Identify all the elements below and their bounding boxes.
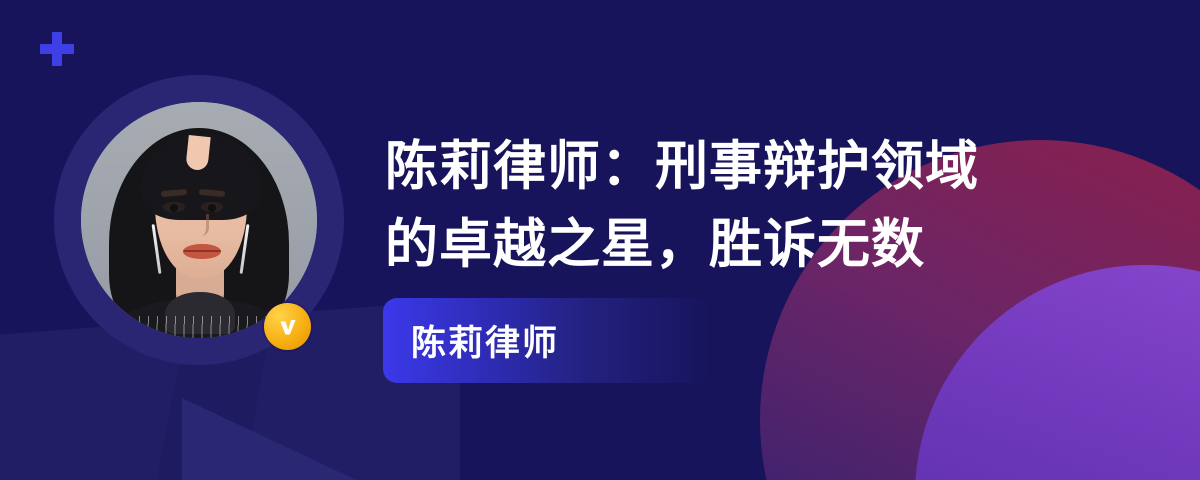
verified-check-icon bbox=[275, 314, 301, 340]
name-badge-label: 陈莉律师 bbox=[411, 315, 559, 366]
portrait-shirt-stripes bbox=[139, 316, 269, 338]
page-title: 陈莉律师：刑事辩护领域 的卓越之星，胜诉无数 bbox=[385, 128, 1075, 284]
decorative-triangle bbox=[182, 398, 362, 480]
decorative-violet-circle bbox=[915, 265, 1200, 480]
name-badge[interactable]: 陈莉律师 bbox=[383, 298, 711, 383]
avatar[interactable] bbox=[54, 75, 344, 365]
plus-icon bbox=[40, 32, 74, 66]
plus-icon-horizontal-bar bbox=[40, 44, 74, 54]
portrait-lip-line bbox=[183, 250, 221, 252]
verified-badge[interactable] bbox=[264, 303, 311, 350]
portrait-nose bbox=[194, 214, 209, 236]
portrait-pupil-right bbox=[208, 204, 216, 212]
plus-icon-vertical-bar bbox=[52, 32, 62, 66]
lawyer-profile-banner: 陈莉律师：刑事辩护领域 的卓越之星，胜诉无数 陈莉律师 bbox=[0, 0, 1200, 480]
portrait-pupil-left bbox=[170, 204, 178, 212]
